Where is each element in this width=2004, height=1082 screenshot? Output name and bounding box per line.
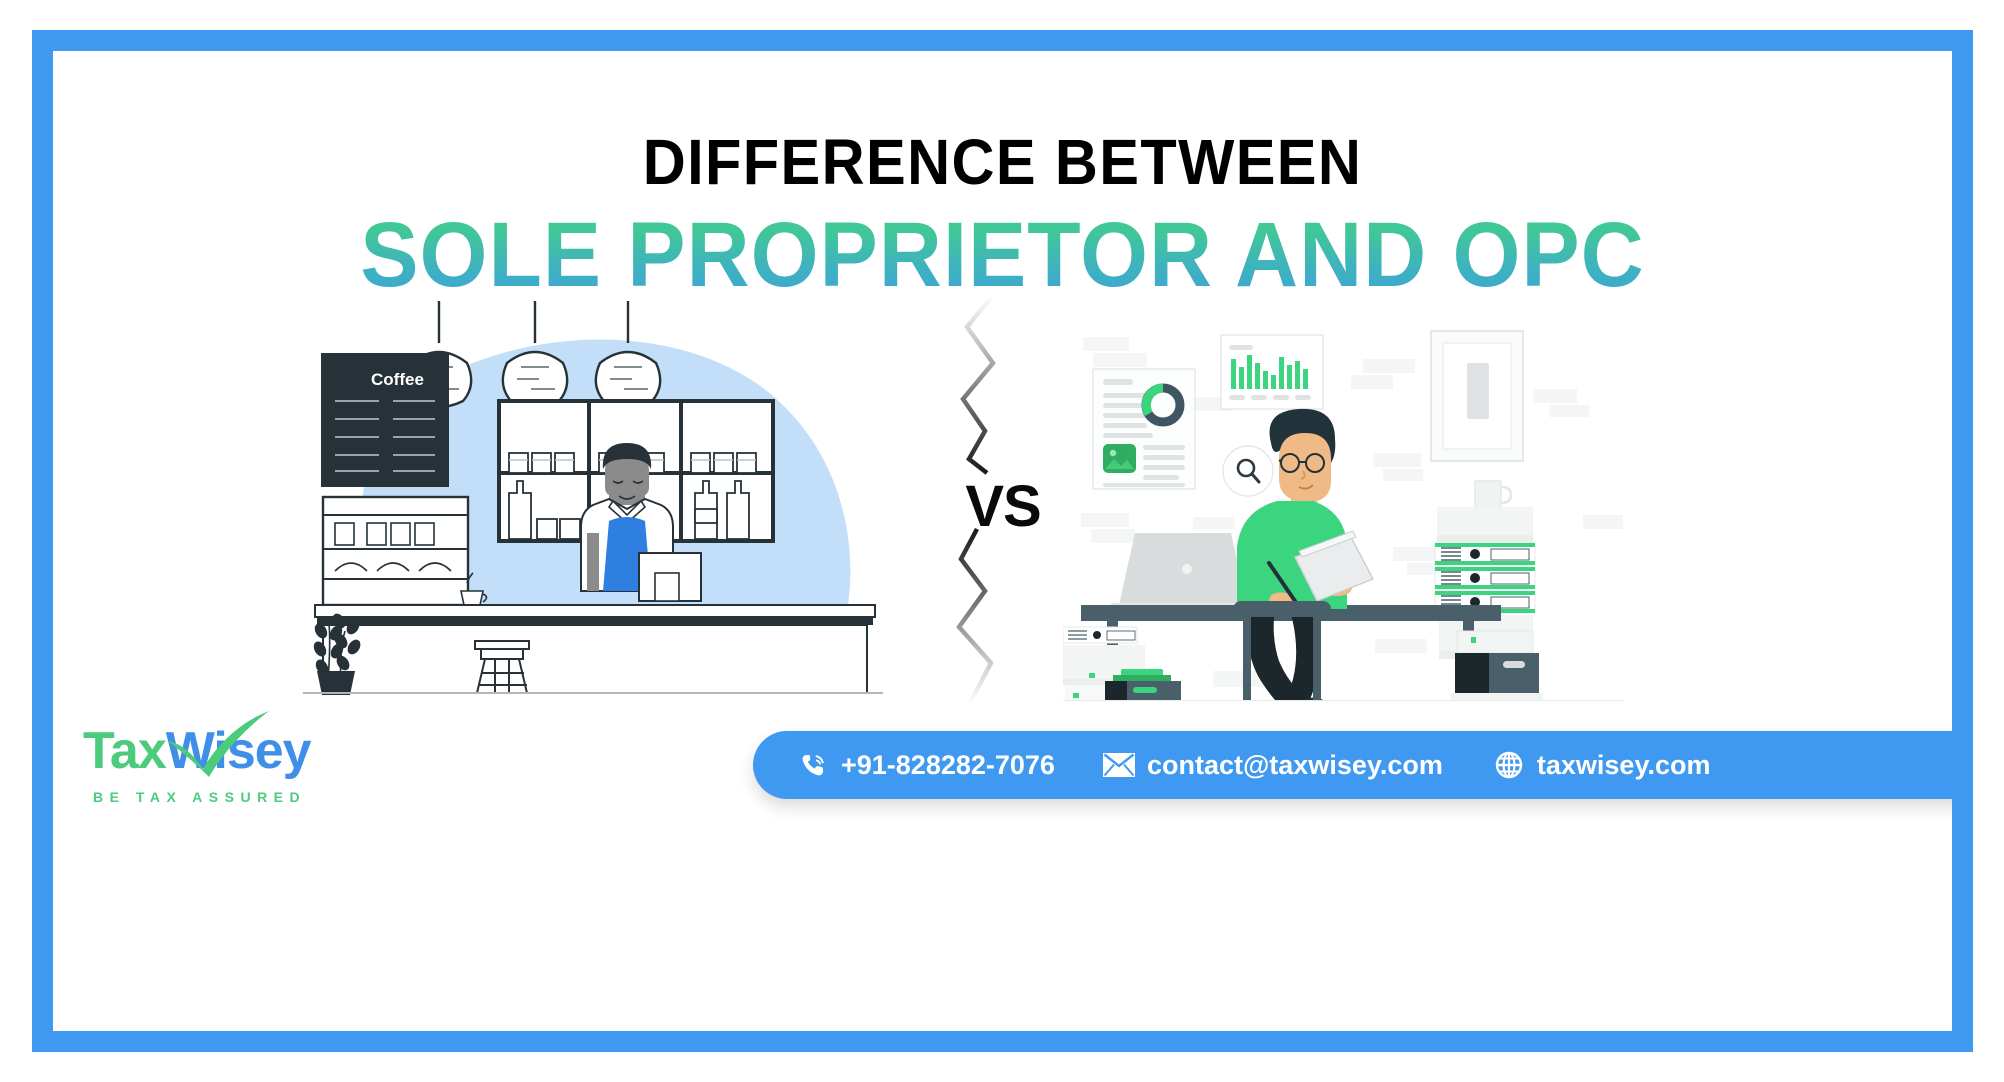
search-icon-bubble — [1223, 446, 1273, 496]
contact-website[interactable]: taxwisey.com — [1493, 749, 1711, 781]
zigzag-top — [963, 295, 993, 473]
pendant-cords — [439, 301, 628, 343]
menu-board-title: Coffee — [371, 370, 424, 389]
coffee-shop-svg: Coffee — [303, 301, 923, 701]
illustration-sole-proprietor: Coffee — [303, 301, 923, 701]
wall-report — [1093, 369, 1195, 489]
page-title-line-1: DIFFERENCE BETWEEN — [119, 125, 1885, 199]
binder-box-right — [1451, 631, 1543, 701]
logo-text-wisey: Wisey — [166, 722, 311, 780]
zigzag-bottom — [959, 529, 991, 705]
menu-board: Coffee — [321, 353, 449, 487]
brand-logo[interactable]: TaxWisey BE TAX ASSURED — [83, 711, 403, 821]
bar-chart-poster — [1221, 335, 1323, 409]
phone-icon — [797, 749, 829, 781]
logo-wordmark: TaxWisey — [83, 721, 311, 781]
logo-text-x: x — [138, 722, 166, 780]
logo-tagline: BE TAX ASSURED — [93, 789, 306, 805]
picture-frame — [1431, 331, 1523, 461]
opc-office-svg — [1063, 301, 1623, 701]
illustration-opc — [1063, 301, 1623, 701]
logo-text-tax: Ta — [83, 722, 138, 780]
vs-label: VS — [923, 473, 1083, 540]
service-counter — [315, 605, 875, 693]
contact-bar: +91-828282-7076 contact@taxwisey.com — [753, 731, 1952, 799]
contact-email-text: contact@taxwisey.com — [1147, 750, 1443, 781]
contact-phone[interactable]: +91-828282-7076 — [797, 749, 1055, 781]
vs-divider: VS — [923, 291, 1083, 711]
coffee-mug — [1475, 481, 1511, 509]
poster-canvas: DIFFERENCE BETWEEN SOLE PROPRIETOR AND O… — [0, 0, 2004, 1082]
contact-phone-text: +91-828282-7076 — [841, 750, 1055, 781]
illustration-stage: Coffee — [53, 291, 1952, 711]
email-icon — [1103, 749, 1135, 781]
poster-content-area: DIFFERENCE BETWEEN SOLE PROPRIETOR AND O… — [53, 51, 1952, 1031]
pastry-display — [323, 497, 468, 605]
contact-website-text: taxwisey.com — [1537, 750, 1711, 781]
globe-icon — [1493, 749, 1525, 781]
contact-email[interactable]: contact@taxwisey.com — [1103, 749, 1443, 781]
